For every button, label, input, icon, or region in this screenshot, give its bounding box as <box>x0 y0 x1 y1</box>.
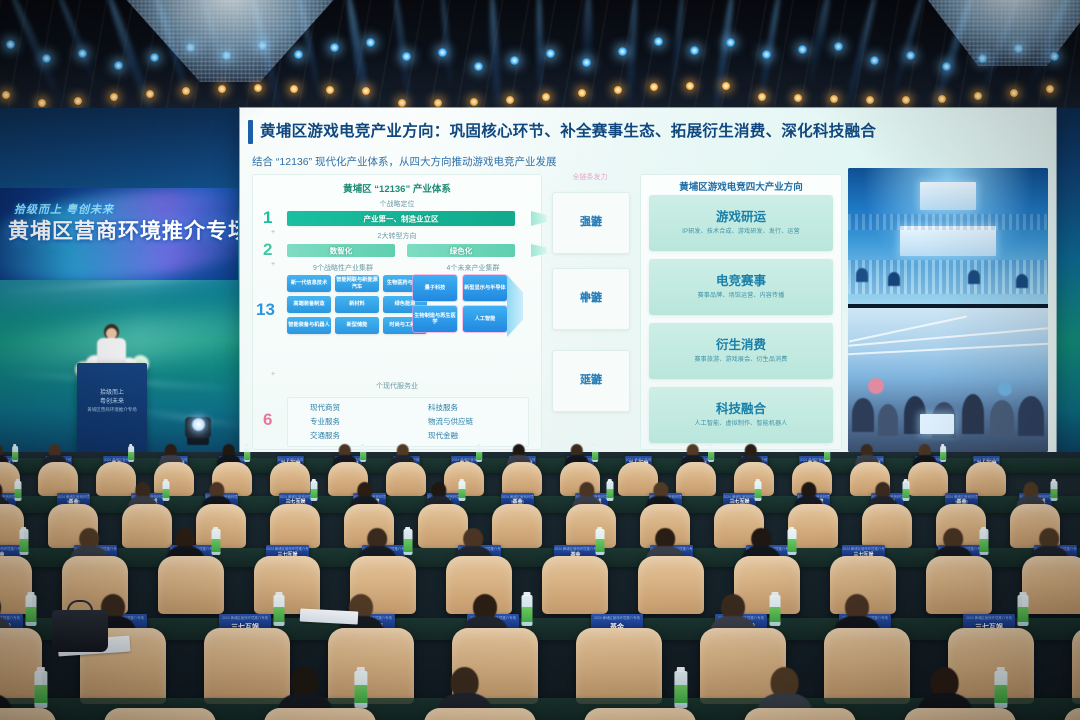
spotlight-warm <box>614 86 622 94</box>
ceiling <box>0 0 1080 118</box>
bottle-label <box>162 489 169 499</box>
water-bottle <box>310 479 317 501</box>
audience-chair <box>904 708 1016 720</box>
strategic-cluster-tile: 新型储能 <box>335 317 379 334</box>
water-bottle <box>940 444 946 462</box>
spotlight-warm <box>254 84 262 92</box>
future-cluster-label: 人工智能 <box>463 306 507 332</box>
bottle-label <box>824 452 830 460</box>
transform-bar-2: 绿色化 <box>407 244 515 257</box>
water-bottle <box>458 479 465 501</box>
positioning-bar: 产业第一、制造业立区 <box>287 211 515 226</box>
bottle-label <box>273 607 284 622</box>
spotlight-blue <box>294 50 303 59</box>
spotlight-warm <box>830 95 838 103</box>
strategic-cluster-tile: 新一代信息技术 <box>287 275 331 292</box>
bottle-label <box>458 489 465 499</box>
spotlight-blue <box>150 53 159 62</box>
bottle-label <box>360 452 366 460</box>
spotlight-blue <box>6 40 15 49</box>
bottle-label <box>1017 607 1028 622</box>
water-bottle <box>12 444 18 462</box>
audience-chair <box>576 628 662 704</box>
audience-chair <box>638 556 704 614</box>
strategic-cluster-label: 新型储能 <box>335 317 379 334</box>
spotlight-warm <box>578 89 586 97</box>
caption-future: 4个未来产业集群 <box>413 263 533 273</box>
spotlight-warm <box>866 96 874 104</box>
caption-strategic: 9个战略性产业集群 <box>273 263 413 273</box>
bottle-label <box>476 452 482 460</box>
bottle-label <box>244 452 250 460</box>
water-bottle <box>769 592 780 626</box>
spotlight-blue <box>78 49 87 58</box>
service-left-1: 现代商贸 <box>310 402 340 413</box>
water-bottle <box>360 444 366 462</box>
strategic-cluster-label: 新材料 <box>335 296 379 313</box>
water-bottle <box>979 527 988 555</box>
bottle-label <box>787 539 796 551</box>
water-bottle <box>902 479 909 501</box>
caption-positioning: 个战略定位 <box>253 199 541 209</box>
future-cluster-label: 新型显示与半导体 <box>463 275 507 301</box>
water-bottle <box>824 444 830 462</box>
audience-chair <box>502 462 542 496</box>
audience-area: 2024 黄埔区营商环境推介专场快手电竞2024 黄埔区营商环境推介专场中手游2… <box>0 452 1080 720</box>
audience-chair <box>542 556 608 614</box>
strategic-cluster-tile: 高端装备制造 <box>287 296 331 313</box>
direction-title: 科技融合 <box>649 398 833 417</box>
water-bottle <box>1017 592 1028 626</box>
service-left-3: 交通服务 <box>310 430 340 441</box>
audience-chair <box>676 462 716 496</box>
spotlight-blue <box>690 46 699 55</box>
spotlight-warm <box>2 91 10 99</box>
bottle-label <box>12 452 18 460</box>
direction-subtitle: 赛事旅游、游戏展会、衍生品消费 <box>649 354 833 363</box>
audience-chair <box>104 708 216 720</box>
industry-system-panel: 黄埔区 “12136” 产业体系 个战略定位 1 产业第一、制造业立区 + 2大… <box>252 174 542 450</box>
right-panel-heading: 黄埔区游戏电竞四大产业方向 <box>641 179 841 193</box>
water-bottle <box>403 527 412 555</box>
audience-chair <box>926 556 992 614</box>
spotlight-warm <box>1010 89 1018 97</box>
conference-hall-photo: 拾级而上 粤创未来 黄埔区营商环境推介专场 拾级而上 粤创未来 黄埔区营商环境推… <box>0 0 1080 720</box>
service-left-2: 专业服务 <box>310 416 340 427</box>
spotlight-warm <box>938 95 946 103</box>
bottle-label <box>940 452 946 460</box>
spotlight-blue <box>870 56 879 65</box>
chain-stage-downstream: 下游延链 <box>552 350 630 412</box>
spotlight-warm <box>542 93 550 101</box>
spotlight-blue <box>114 61 123 70</box>
direction-subtitle: IP研发、技术合成、游戏研发、发行、运营 <box>649 226 833 235</box>
audience-chair <box>908 462 948 496</box>
value-chain-panel: 全链条发力 上游强链 中游补链 下游延链 <box>546 174 634 448</box>
water-bottle <box>787 527 796 555</box>
water-bottle <box>754 479 761 501</box>
spotlight-blue <box>834 42 843 51</box>
direction-title: 衍生消费 <box>649 334 833 353</box>
spotlight-warm <box>182 87 190 95</box>
audience-chair <box>492 504 542 548</box>
spotlight-warm <box>686 82 694 90</box>
spotlight-blue <box>942 62 951 71</box>
title-accent-bar <box>248 120 253 144</box>
audience-chair <box>824 628 910 704</box>
number-2: 2 <box>263 241 272 258</box>
spotlight-warm <box>74 97 82 105</box>
water-bottle <box>1050 479 1057 501</box>
slide-title: 黄埔区游戏电竞产业方向：巩固核心环节、补全赛事生态、拓展衍生消费、深化科技融合 <box>260 119 876 141</box>
spotlight-blue <box>654 37 663 46</box>
placard-header: 2024 黄埔区营商环境推介专场 <box>963 615 1015 620</box>
spotlight-warm <box>434 99 442 107</box>
presentation-screen: 黄埔区游戏电竞产业方向：巩固核心环节、补全赛事生态、拓展衍生消费、深化科技融合 … <box>240 108 1056 460</box>
direction-row: 电竞赛事赛事品牌、场馆运营、内容传播 <box>649 259 833 315</box>
number-6: 6 <box>263 411 272 428</box>
spotlight-warm <box>650 83 658 91</box>
spotlight-warm <box>110 93 118 101</box>
chain-label: 全链条发力 <box>546 172 634 182</box>
bottle-label <box>1050 489 1057 499</box>
spotlight-warm <box>1046 85 1054 93</box>
spotlight-blue <box>762 50 771 59</box>
strategic-cluster-tile: 智能网联与新能源汽车 <box>335 275 379 292</box>
event-banner: 拾级而上 粤创未来 黄埔区营商环境推介专场 <box>0 188 238 280</box>
direction-title: 电竞赛事 <box>649 270 833 289</box>
audience-chair <box>328 628 414 704</box>
direction-subtitle: 赛事品牌、场馆运营、内容传播 <box>649 290 833 299</box>
bottle-label <box>25 607 36 622</box>
spotlight-warm <box>506 96 514 104</box>
spotlight-warm <box>758 93 766 101</box>
bottle-label <box>769 607 780 622</box>
spotlight-blue <box>402 52 411 61</box>
spotlight-warm <box>326 86 334 94</box>
water-bottle <box>162 479 169 501</box>
four-directions-panel: 黄埔区游戏电竞四大产业方向 游戏研运IP研发、技术合成、游戏研发、发行、运营电竞… <box>640 174 842 450</box>
audience-chair <box>966 462 1006 496</box>
audience-chair <box>566 504 616 548</box>
bottle-label <box>521 607 532 622</box>
audience-chair <box>1072 628 1080 704</box>
strategic-cluster-label: 新一代信息技术 <box>287 275 331 292</box>
service-right-1: 科技服务 <box>428 402 458 413</box>
strategic-cluster-label: 高端装备制造 <box>287 296 331 313</box>
water-bottle <box>606 479 613 501</box>
strategic-cluster-label: 智能装备与机器人 <box>287 317 331 334</box>
spotlight-warm <box>398 99 406 107</box>
water-bottle <box>476 444 482 462</box>
speaker <box>95 324 127 366</box>
water-bottle <box>708 444 714 462</box>
moving-head-light-1 <box>185 415 211 445</box>
audience-chair <box>270 504 320 548</box>
water-bottle <box>674 667 687 708</box>
number-13: 13 <box>256 301 275 318</box>
banner-title: 黄埔区营商环境推介专场 <box>8 215 238 245</box>
direction-row: 游戏研运IP研发、技术合成、游戏研发、发行、运营 <box>649 195 833 251</box>
water-bottle <box>273 592 284 626</box>
placard-header: 2024 黄埔区营商环境推介专场 <box>591 615 643 620</box>
water-bottle <box>592 444 598 462</box>
handbag-handle <box>67 600 93 613</box>
chain-stage-midstream: 中游补链 <box>552 268 630 330</box>
plus-3: + <box>271 371 275 378</box>
water-bottle <box>25 592 36 626</box>
bottle-label <box>592 452 598 460</box>
future-arrow <box>507 275 523 337</box>
audience-chair <box>744 708 856 720</box>
water-bottle <box>128 444 134 462</box>
bottle-label <box>606 489 613 499</box>
service-right-3: 现代金融 <box>428 430 458 441</box>
spotlight-warm <box>974 92 982 100</box>
podium-label: 拾级而上 粤创未来 黄埔区营商环境推介专场 <box>83 389 141 414</box>
bottle-label <box>310 489 317 499</box>
bottle-label <box>674 685 687 703</box>
slide-title-bar: 黄埔区游戏电竞产业方向：巩固核心环节、补全赛事生态、拓展衍生消费、深化科技融合 <box>248 118 1048 146</box>
water-bottle <box>994 667 1007 708</box>
spotlight-warm <box>38 99 46 107</box>
bottle-label <box>128 452 134 460</box>
audience-chair <box>386 462 426 496</box>
audience-chair <box>38 462 78 496</box>
bottle-label <box>754 489 761 499</box>
future-cluster-label: 量子科技 <box>413 275 457 301</box>
spotlight-warm <box>218 85 226 93</box>
strategic-cluster-label: 智能网联与新能源汽车 <box>335 275 379 292</box>
spotlight-blue <box>330 43 339 52</box>
water-bottle <box>354 667 367 708</box>
spotlight-blue <box>726 38 735 47</box>
water-bottle <box>595 527 604 555</box>
placard-header: 2024 黄埔区营商环境推介专场 <box>219 615 271 620</box>
caption-transform: 2大转型方向 <box>253 231 541 241</box>
spotlight-warm <box>362 87 370 95</box>
water-bottle <box>211 527 220 555</box>
future-cluster-tile: 新型显示与半导体 <box>463 275 507 301</box>
direction-row: 衍生消费赛事旅游、游戏展会、衍生品消费 <box>649 323 833 379</box>
strategic-cluster-tile: 智能装备与机器人 <box>287 317 331 334</box>
spotlight-blue <box>618 47 627 56</box>
spotlight-warm <box>902 96 910 104</box>
transform-bar-2-label: 绿色化 <box>407 245 515 256</box>
audience-chair <box>254 556 320 614</box>
bottle-label <box>595 539 604 551</box>
audience-chair <box>424 708 536 720</box>
slide-photo-column <box>848 168 1048 452</box>
direction-title: 游戏研运 <box>649 206 833 225</box>
podium: 拾级而上 粤创未来 黄埔区营商环境推介专场 <box>77 363 147 460</box>
audience-chair <box>158 556 224 614</box>
spotlight-blue <box>438 48 447 57</box>
spotlight-blue <box>798 45 807 54</box>
bottle-label <box>211 539 220 551</box>
spotlight-blue <box>510 56 519 65</box>
spotlight-blue <box>474 62 483 71</box>
transform-bar-1-label: 数智化 <box>287 245 395 256</box>
water-bottle <box>19 527 28 555</box>
bottle-label <box>979 539 988 551</box>
chain-stage-upstream: 上游强链 <box>552 192 630 254</box>
spotlight-blue <box>906 51 915 60</box>
direction-subtitle: 人工智能、虚拟制作、智能机器人 <box>649 418 833 427</box>
water-bottle <box>521 592 532 626</box>
bottle-label <box>902 489 909 499</box>
spotlight-warm <box>794 94 802 102</box>
service-right-2: 物流与供应链 <box>428 416 473 427</box>
spotlight-warm <box>290 85 298 93</box>
future-cluster-tile: 人工智能 <box>463 306 507 332</box>
future-cluster-tile: 量子科技 <box>413 275 457 301</box>
bottle-label <box>403 539 412 551</box>
spotlight-blue <box>582 58 591 67</box>
water-bottle <box>34 667 47 708</box>
spotlight-warm <box>470 98 478 106</box>
audience-chair <box>122 504 172 548</box>
transform-bar-1: 数智化 <box>287 244 395 257</box>
spotlight-warm <box>722 82 730 90</box>
esports-arena-photo <box>848 168 1048 304</box>
strategic-cluster-tile: 新材料 <box>335 296 379 313</box>
number-1: 1 <box>263 209 272 226</box>
audience-chair <box>1022 556 1080 614</box>
future-cluster-tile: 生物制造与再生医学 <box>413 306 457 332</box>
spotlight-blue <box>546 49 555 58</box>
bottle-label <box>354 685 367 703</box>
bottle-label <box>19 539 28 551</box>
future-cluster-label: 生物制造与再生医学 <box>413 306 457 332</box>
audience-chair <box>154 462 194 496</box>
spotlight-warm <box>146 90 154 98</box>
audience-chair <box>264 708 376 720</box>
spotlight-blue <box>42 54 51 63</box>
audience-chair <box>270 462 310 496</box>
bottle-label <box>34 685 47 703</box>
positioning-bar-label: 产业第一、制造业立区 <box>287 213 515 224</box>
slide-subtitle: 结合 “12136” 现代化产业体系，从四大方向推动游戏电竞产业发展 <box>252 154 557 169</box>
bottle-label <box>708 452 714 460</box>
water-bottle <box>14 479 21 501</box>
left-panel-heading: 黄埔区 “12136” 产业体系 <box>253 181 541 195</box>
caption-services: 个现代服务业 <box>253 381 541 391</box>
water-bottle <box>244 444 250 462</box>
audience-chair <box>584 708 696 720</box>
audience-chair <box>862 504 912 548</box>
audience-chair <box>0 708 56 720</box>
spotlight-blue <box>366 38 375 47</box>
modern-services-box: 现代商贸 专业服务 交通服务 科技服务 物流与供应链 现代金融 <box>287 397 529 447</box>
expo-crowd-photo <box>848 308 1048 452</box>
bottle-label <box>994 685 1007 703</box>
direction-row: 科技融合人工智能、虚拟制作、智能机器人 <box>649 387 833 443</box>
handbag <box>52 610 108 652</box>
bottle-label <box>14 489 21 499</box>
